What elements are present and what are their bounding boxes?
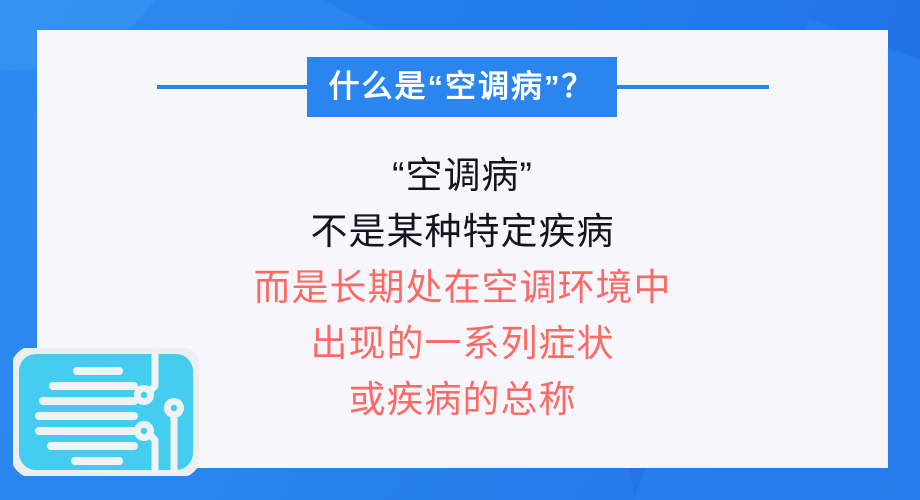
page-title: 什么是“空调病”？ [307,57,617,117]
body-line-2: 不是某种特定疾病 [37,204,888,260]
title-banner-row: 什么是“空调病”？ [37,58,888,116]
slide-canvas: 什么是“空调病”？ “空调病” 不是某种特定疾病 而是长期处在空调环境中 出现的… [0,0,920,500]
title-rule-right [617,85,769,89]
title-rule-left [157,85,307,89]
body-line-1: “空调病” [37,142,888,204]
body-line-3: 而是长期处在空调环境中 [37,260,888,316]
circuit-board-document-icon [13,348,199,476]
